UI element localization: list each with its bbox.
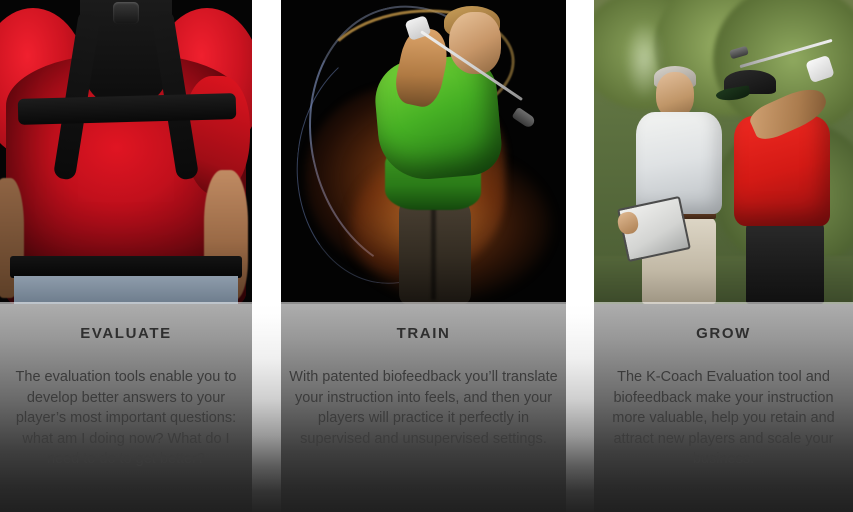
card-body-grow: GROW The K-Coach Evaluation tool and bio…	[594, 304, 853, 512]
image-separator	[0, 302, 252, 304]
card-title-train: TRAIN	[285, 326, 562, 341]
card-gutter-2	[566, 0, 594, 512]
card-text-evaluate: The evaluation tools enable you to devel…	[4, 367, 248, 470]
feature-card-grow[interactable]: GROW The K-Coach Evaluation tool and bio…	[594, 0, 853, 512]
card-gutter-1	[252, 0, 281, 512]
biofeedback-sensor-shape	[113, 2, 139, 24]
image-separator	[281, 302, 566, 304]
card-body-train: TRAIN With patented biofeedback you’ll t…	[281, 304, 566, 512]
card-title-grow: GROW	[598, 326, 849, 341]
card-body-evaluate: EVALUATE The evaluation tools enable you…	[0, 304, 252, 512]
jeans-shape	[14, 276, 238, 304]
golfer-swing-green-polo-light-trails-image	[281, 0, 566, 304]
feature-cards-page: EVALUATE The evaluation tools enable you…	[0, 0, 853, 512]
feature-card-train[interactable]: TRAIN With patented biofeedback you’ll t…	[281, 0, 566, 512]
player-pants-fold-shape	[431, 200, 436, 300]
card-title-evaluate: EVALUATE	[4, 326, 248, 341]
card-text-train: With patented biofeedback you’ll transla…	[285, 367, 562, 449]
player-head-shape	[449, 12, 501, 74]
coach-with-tablet-and-player-swinging-image	[594, 0, 853, 304]
card-text-grow: The K-Coach Evaluation tool and biofeedb…	[598, 367, 849, 470]
feature-cards-row: EVALUATE The evaluation tools enable you…	[0, 0, 853, 512]
feature-card-evaluate[interactable]: EVALUATE The evaluation tools enable you…	[0, 0, 252, 512]
player-black-pants-shape	[746, 222, 824, 304]
image-separator	[594, 302, 853, 304]
golfer-back-red-polo-biofeedback-harness-image	[0, 0, 252, 304]
belt-shape	[10, 256, 242, 278]
